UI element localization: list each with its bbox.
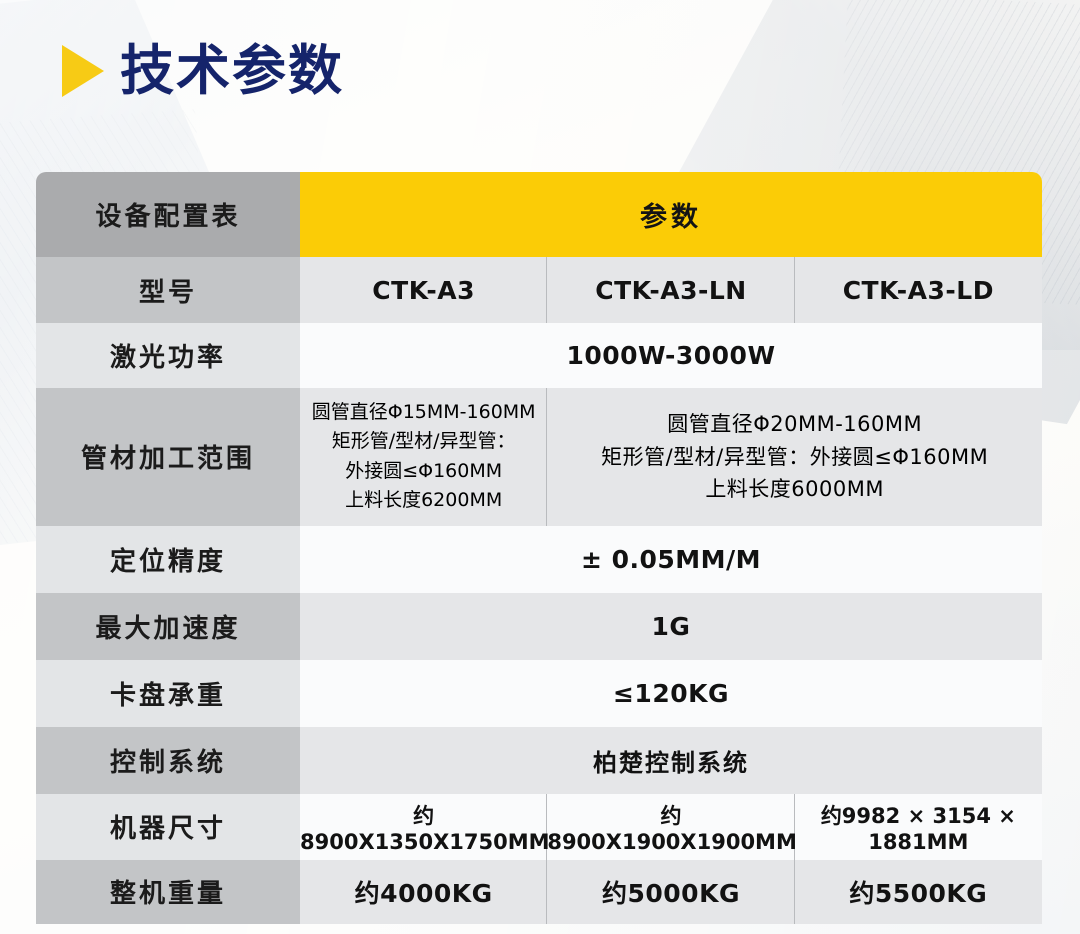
table-row-control-system: 控制系统 柏楚控制系统 bbox=[36, 727, 1042, 794]
table-row-total-weight: 整机重量 约4000KG 约5000KG 约5500KG bbox=[36, 860, 1042, 924]
table-row-model: 型号 CTK-A3 CTK-A3-LN CTK-A3-LD bbox=[36, 257, 1042, 323]
table-row-pipe-range: 管材加工范围 圆管直径Φ15MM-160MM 矩形管/型材/异型管： 外接圆≤Φ… bbox=[36, 388, 1042, 526]
cell-total-weight-a3: 约4000KG bbox=[300, 860, 547, 924]
row-label-total-weight: 整机重量 bbox=[36, 860, 300, 924]
pipe-line: 矩形管/型材/异型管： bbox=[306, 427, 541, 456]
row-label-model: 型号 bbox=[36, 257, 300, 323]
row-label-pipe-range: 管材加工范围 bbox=[36, 388, 300, 526]
cell-pipe-range-ln-ld: 圆管直径Φ20MM-160MM 矩形管/型材/异型管：外接圆≤Φ160MM 上料… bbox=[547, 388, 1042, 526]
spec-table: 设备配置表 参数 型号 CTK-A3 CTK-A3-LN CTK-A3-LD 激… bbox=[36, 172, 1042, 924]
cell-total-weight-a3-ld: 约5500KG bbox=[795, 860, 1042, 924]
cell-laser-power: 1000W-3000W bbox=[300, 323, 1042, 388]
pipe-line: 外接圆≤Φ160MM bbox=[306, 457, 541, 486]
page-title-row: 技术参数 bbox=[62, 44, 344, 98]
cell-max-acceleration: 1G bbox=[300, 593, 1042, 660]
table-row-positioning-accuracy: 定位精度 ± 0.05MM/M bbox=[36, 526, 1042, 593]
table-row-chuck-load: 卡盘承重 ≤120KG bbox=[36, 660, 1042, 727]
pipe-line: 上料长度6200MM bbox=[306, 486, 541, 515]
cell-model-a3: CTK-A3 bbox=[300, 257, 547, 323]
cell-model-a3-ld: CTK-A3-LD bbox=[795, 257, 1042, 323]
play-triangle-icon bbox=[62, 45, 104, 97]
pipe-line: 矩形管/型材/异型管：外接圆≤Φ160MM bbox=[553, 441, 1036, 474]
cell-positioning-accuracy: ± 0.05MM/M bbox=[300, 526, 1042, 593]
pipe-line: 圆管直径Φ20MM-160MM bbox=[553, 408, 1036, 441]
pipe-range-ln-ld-lines: 圆管直径Φ20MM-160MM 矩形管/型材/异型管：外接圆≤Φ160MM 上料… bbox=[547, 398, 1042, 516]
pipe-line: 上料长度6000MM bbox=[553, 473, 1036, 506]
cell-machine-size-a3-ld: 约9982 × 3154 × 1881MM bbox=[795, 794, 1042, 860]
cell-machine-size-a3: 约8900X1350X1750MM bbox=[300, 794, 547, 860]
row-label-laser-power: 激光功率 bbox=[36, 323, 300, 388]
row-label-positioning-accuracy: 定位精度 bbox=[36, 526, 300, 593]
row-label-machine-size: 机器尺寸 bbox=[36, 794, 300, 860]
spec-table-title-cell: 设备配置表 bbox=[36, 172, 300, 257]
table-row-max-acceleration: 最大加速度 1G bbox=[36, 593, 1042, 660]
table-row-laser-power: 激光功率 1000W-3000W bbox=[36, 323, 1042, 388]
row-label-control-system: 控制系统 bbox=[36, 727, 300, 794]
cell-total-weight-a3-ln: 约5000KG bbox=[547, 860, 794, 924]
cell-control-system: 柏楚控制系统 bbox=[300, 727, 1042, 794]
row-label-chuck-load: 卡盘承重 bbox=[36, 660, 300, 727]
cell-pipe-range-a3: 圆管直径Φ15MM-160MM 矩形管/型材/异型管： 外接圆≤Φ160MM 上… bbox=[300, 388, 547, 526]
page-canvas: 技术参数 设备配置表 参数 型号 CTK-A3 CTK-A3-LN CTK-A3… bbox=[0, 0, 1080, 934]
page-title: 技术参数 bbox=[120, 44, 344, 98]
cell-chuck-load: ≤120KG bbox=[300, 660, 1042, 727]
pipe-line: 圆管直径Φ15MM-160MM bbox=[306, 398, 541, 427]
cell-machine-size-a3-ln: 约8900X1900X1900MM bbox=[547, 794, 794, 860]
table-header-row: 设备配置表 参数 bbox=[36, 172, 1042, 257]
param-header-cell: 参数 bbox=[300, 172, 1042, 257]
row-label-max-acceleration: 最大加速度 bbox=[36, 593, 300, 660]
cell-model-a3-ln: CTK-A3-LN bbox=[547, 257, 794, 323]
pipe-range-a3-lines: 圆管直径Φ15MM-160MM 矩形管/型材/异型管： 外接圆≤Φ160MM 上… bbox=[300, 388, 547, 526]
table-row-machine-size: 机器尺寸 约8900X1350X1750MM 约8900X1900X1900MM… bbox=[36, 794, 1042, 860]
